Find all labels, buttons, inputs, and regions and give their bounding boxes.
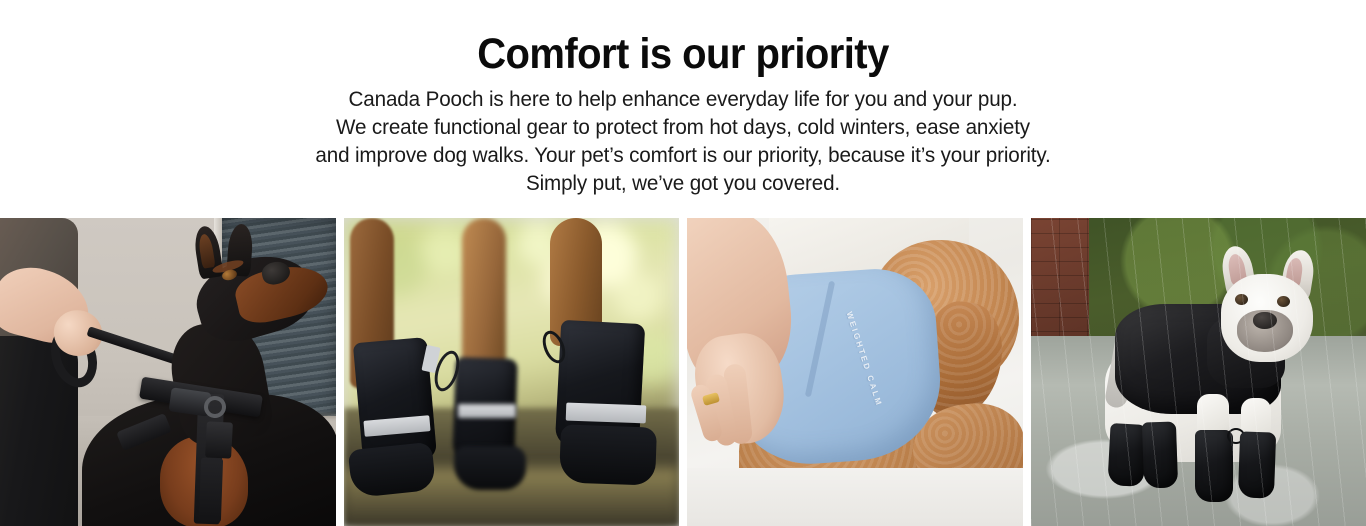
body-line-3: and improve dog walks. Your pet’s comfor… (27, 141, 1338, 169)
boots-scene (344, 218, 680, 526)
frenchie-rain-scene (1031, 218, 1366, 526)
gallery-image-frenchie-raincoat[interactable] (1031, 218, 1366, 526)
bed-foreground (687, 468, 1023, 526)
doberman-scene (0, 218, 336, 526)
boot-middle-reflective-strap (458, 404, 516, 418)
image-gallery-strip: WEIGHTED CALM (0, 218, 1366, 526)
boot-right-reflective-strap (565, 403, 646, 424)
marketing-hero-section: Comfort is our priority Canada Pooch is … (0, 0, 1366, 526)
boot-right-toe (559, 424, 657, 485)
hero-body-copy: Canada Pooch is here to help enhance eve… (0, 85, 1366, 197)
rain-streaks-overlay (1031, 218, 1366, 526)
gallery-image-boots-walk[interactable] (344, 218, 680, 526)
harness-label-strap (199, 458, 223, 523)
page-title: Comfort is our priority (48, 29, 1318, 79)
body-line-1: Canada Pooch is here to help enhance eve… (27, 85, 1338, 113)
hero-text-block: Comfort is our priority Canada Pooch is … (0, 0, 1366, 197)
body-line-4: Simply put, we’ve got you covered. (27, 169, 1338, 197)
body-line-2: We create functional gear to protect fro… (27, 113, 1338, 141)
weighted-vest-scene: WEIGHTED CALM (687, 218, 1023, 526)
gallery-image-weighted-calm-vest[interactable]: WEIGHTED CALM (687, 218, 1023, 526)
harness-tag (205, 421, 233, 458)
gallery-image-doberman-harness[interactable] (0, 218, 336, 526)
dog-leg-background (462, 218, 506, 368)
boot-middle-toe (454, 446, 526, 490)
